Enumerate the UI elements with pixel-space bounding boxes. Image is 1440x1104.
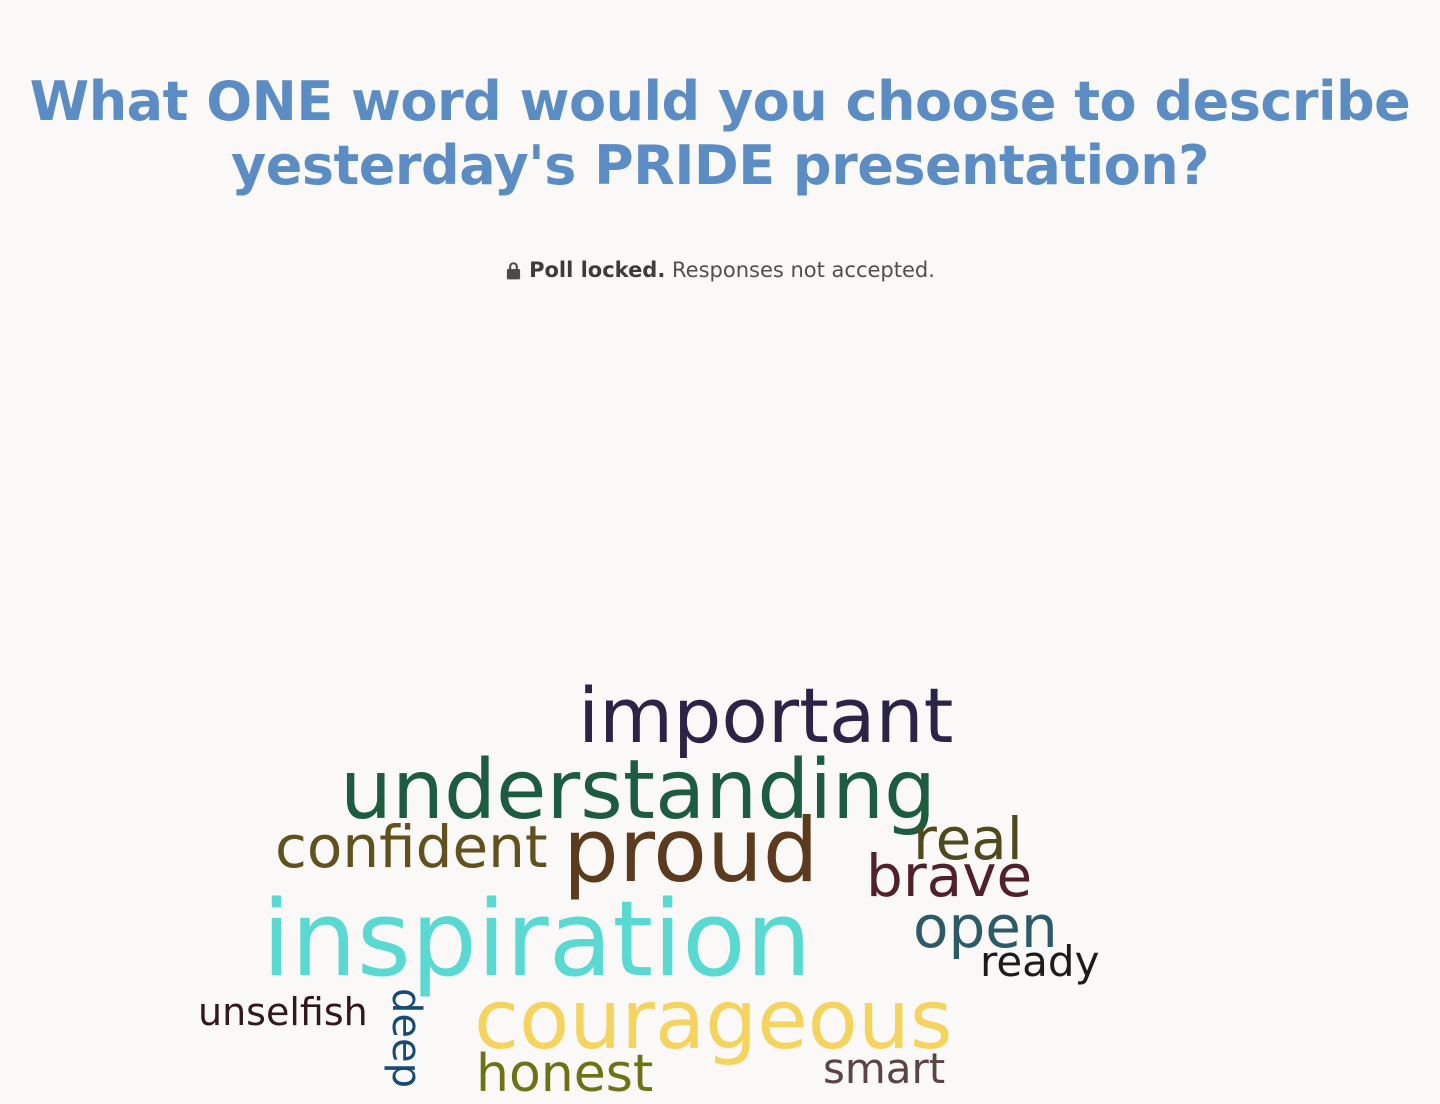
word-cloud: important understanding confident proud … (0, 330, 1440, 810)
poll-locked-note: Responses not accepted. (672, 258, 935, 282)
cloud-word-honest[interactable]: honest (476, 1048, 653, 1100)
cloud-word-unselfish[interactable]: unselfish (198, 993, 368, 1031)
cloud-word-inspiration[interactable]: inspiration (262, 887, 812, 991)
page-title: What ONE word would you choose to descri… (0, 70, 1440, 197)
poll-status-bar: Poll locked. Responses not accepted. (0, 258, 1440, 282)
poll-locked-label: Poll locked. (529, 258, 665, 282)
cloud-word-confident[interactable]: confident (275, 818, 548, 876)
poll-result-page: What ONE word would you choose to descri… (0, 0, 1440, 900)
cloud-word-smart[interactable]: smart (823, 1048, 945, 1090)
cloud-word-deep[interactable]: deep (386, 988, 426, 1088)
cloud-word-ready[interactable]: ready (980, 941, 1099, 983)
lock-icon (505, 261, 522, 280)
